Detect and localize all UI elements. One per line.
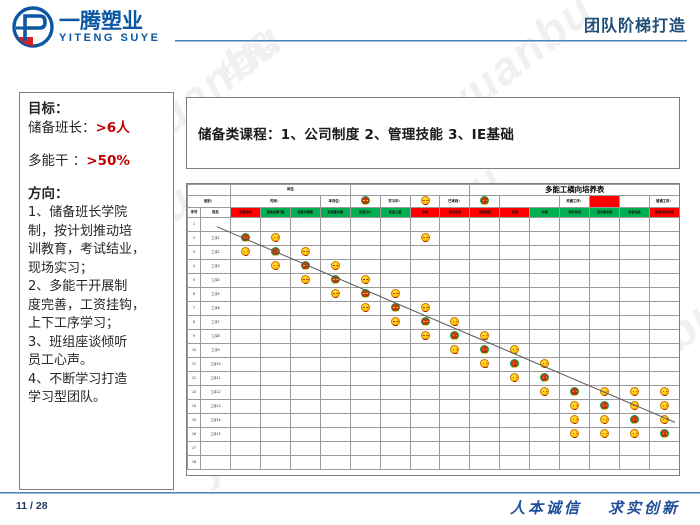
matrix-cell[interactable]: [410, 246, 440, 260]
matrix-cell[interactable]: [560, 246, 590, 260]
matrix-cell[interactable]: [620, 302, 650, 316]
matrix-cell[interactable]: [320, 330, 350, 344]
matrix-cell[interactable]: [620, 442, 650, 456]
matrix-cell[interactable]: [350, 386, 380, 400]
matrix-cell[interactable]: [410, 372, 440, 386]
matrix-cell[interactable]: [530, 386, 560, 400]
matrix-column-header: 安装按钮: [470, 208, 500, 218]
matrix-cell[interactable]: [350, 288, 380, 302]
matrix-cell[interactable]: [500, 274, 530, 288]
matrix-cell[interactable]: [620, 218, 650, 232]
matrix-column-header: 混合器安装: [590, 208, 620, 218]
matrix-cell[interactable]: [440, 316, 470, 330]
matrix-cell[interactable]: [260, 428, 290, 442]
matrix-cell[interactable]: [500, 316, 530, 330]
goal-row: 储备班长：>6人: [28, 119, 167, 138]
matrix-cell[interactable]: [290, 372, 320, 386]
matrix-cell[interactable]: [440, 386, 470, 400]
matrix-cell[interactable]: [350, 218, 380, 232]
matrix-cell[interactable]: [260, 302, 290, 316]
matrix-cell[interactable]: [260, 246, 290, 260]
matrix-cell[interactable]: [410, 344, 440, 358]
matrix-cell[interactable]: [260, 288, 290, 302]
matrix-cell[interactable]: [231, 274, 261, 288]
matrix-cell[interactable]: [231, 260, 261, 274]
matrix-cell[interactable]: [500, 260, 530, 274]
matrix-cell[interactable]: [560, 232, 590, 246]
matrix-cell[interactable]: [560, 428, 590, 442]
matrix-row: 9工序8: [188, 330, 680, 344]
matrix-cell[interactable]: [590, 456, 620, 470]
matrix-cell[interactable]: [410, 274, 440, 288]
footer-divider: [0, 492, 700, 495]
matrix-cell[interactable]: [380, 400, 410, 414]
matrix-cell[interactable]: [470, 330, 500, 344]
matrix-cell[interactable]: [320, 414, 350, 428]
matrix-cell[interactable]: [530, 316, 560, 330]
matrix-cell[interactable]: [470, 456, 500, 470]
matrix-cell[interactable]: [320, 316, 350, 330]
matrix-cell[interactable]: [649, 260, 679, 274]
matrix-cell[interactable]: [380, 330, 410, 344]
legend-tag-cell: 普通工序：: [649, 196, 679, 208]
matrix-cell[interactable]: [590, 344, 620, 358]
matrix-cell[interactable]: [649, 400, 679, 414]
matrix-cell[interactable]: [649, 428, 679, 442]
matrix-cell[interactable]: [560, 400, 590, 414]
matrix-cell[interactable]: [590, 288, 620, 302]
matrix-cell[interactable]: [260, 372, 290, 386]
row-name: 工序5: [201, 288, 231, 302]
matrix-cell[interactable]: [560, 344, 590, 358]
yellow-smiley-icon: [301, 247, 310, 256]
matrix-cell[interactable]: [231, 218, 261, 232]
matrix-cell[interactable]: [500, 232, 530, 246]
yellow-smiley-icon: [630, 387, 639, 396]
matrix-cell[interactable]: [620, 260, 650, 274]
matrix-cell[interactable]: [530, 442, 560, 456]
matrix-cell[interactable]: [530, 330, 560, 344]
matrix-cell[interactable]: [590, 386, 620, 400]
row-name: 工序14: [201, 414, 231, 428]
matrix-cell[interactable]: [350, 358, 380, 372]
matrix-cell[interactable]: [440, 288, 470, 302]
matrix-cell[interactable]: [440, 274, 470, 288]
matrix-cell[interactable]: [410, 218, 440, 232]
matrix-cell[interactable]: [590, 246, 620, 260]
matrix-cell[interactable]: [231, 232, 261, 246]
matrix-cell[interactable]: [440, 414, 470, 428]
matrix-cell[interactable]: [350, 456, 380, 470]
matrix-cell[interactable]: [470, 302, 500, 316]
matrix-cell[interactable]: [470, 428, 500, 442]
matrix-cell[interactable]: [440, 246, 470, 260]
matrix-cell[interactable]: [500, 372, 530, 386]
matrix-cell[interactable]: [500, 428, 530, 442]
matrix-cell[interactable]: [500, 288, 530, 302]
matrix-cell[interactable]: [320, 232, 350, 246]
matrix-cell[interactable]: [590, 316, 620, 330]
row-number: 13: [188, 386, 201, 400]
matrix-cell[interactable]: [290, 260, 320, 274]
matrix-cell[interactable]: [590, 372, 620, 386]
matrix-cell[interactable]: [470, 372, 500, 386]
matrix-cell[interactable]: [590, 302, 620, 316]
matrix-cell[interactable]: [649, 414, 679, 428]
matrix-cell[interactable]: [649, 316, 679, 330]
matrix-cell[interactable]: [260, 400, 290, 414]
matrix-cell[interactable]: [620, 428, 650, 442]
matrix-cell[interactable]: [530, 232, 560, 246]
matrix-cell[interactable]: [320, 288, 350, 302]
matrix-cell[interactable]: [231, 428, 261, 442]
matrix-cell[interactable]: [590, 274, 620, 288]
matrix-cell[interactable]: [260, 358, 290, 372]
matrix-cell[interactable]: [470, 358, 500, 372]
matrix-cell[interactable]: [380, 386, 410, 400]
matrix-cell[interactable]: [649, 442, 679, 456]
matrix-cell[interactable]: [649, 302, 679, 316]
matrix-cell[interactable]: [410, 414, 440, 428]
matrix-cell[interactable]: [649, 218, 679, 232]
matrix-cell[interactable]: [350, 330, 380, 344]
matrix-cell[interactable]: [560, 442, 590, 456]
matrix-cell[interactable]: [620, 274, 650, 288]
matrix-cell[interactable]: [380, 316, 410, 330]
matrix-cell[interactable]: [440, 218, 470, 232]
row-number: 8: [188, 316, 201, 330]
matrix-cell[interactable]: [260, 274, 290, 288]
matrix-cell[interactable]: [620, 456, 650, 470]
matrix-cell[interactable]: [260, 456, 290, 470]
matrix-cell[interactable]: [350, 372, 380, 386]
matrix-cell[interactable]: [470, 218, 500, 232]
matrix-cell[interactable]: [350, 274, 380, 288]
matrix-cell[interactable]: [530, 288, 560, 302]
yellow-smiley-icon: [600, 429, 609, 438]
matrix-cell[interactable]: [290, 274, 320, 288]
matrix-cell[interactable]: [560, 316, 590, 330]
yellow-smiley-icon: [421, 233, 430, 242]
matrix-cell[interactable]: [380, 302, 410, 316]
matrix-cell[interactable]: [320, 218, 350, 232]
matrix-cell[interactable]: [290, 330, 320, 344]
matrix-cell[interactable]: [380, 218, 410, 232]
matrix-cell[interactable]: [620, 372, 650, 386]
matrix-cell[interactable]: [380, 232, 410, 246]
matrix-cell[interactable]: [500, 302, 530, 316]
matrix-cell[interactable]: [530, 414, 560, 428]
matrix-cell[interactable]: [350, 344, 380, 358]
matrix-cell[interactable]: [290, 400, 320, 414]
matrix-cell[interactable]: [470, 274, 500, 288]
matrix-cell[interactable]: [560, 302, 590, 316]
matrix-cell[interactable]: [649, 232, 679, 246]
yellow-smiley-icon: [301, 275, 310, 284]
matrix-cell[interactable]: [410, 302, 440, 316]
matrix-cell[interactable]: [320, 358, 350, 372]
matrix-cell[interactable]: [560, 330, 590, 344]
matrix-cell[interactable]: [320, 456, 350, 470]
matrix-cell[interactable]: [500, 246, 530, 260]
matrix-cell[interactable]: [380, 288, 410, 302]
matrix-cell[interactable]: [620, 400, 650, 414]
matrix-cell[interactable]: [260, 316, 290, 330]
matrix-cell[interactable]: [440, 358, 470, 372]
yellow-smiley-icon: [540, 359, 549, 368]
matrix-cell[interactable]: [380, 442, 410, 456]
matrix-cell[interactable]: [231, 302, 261, 316]
matrix-cell[interactable]: [380, 428, 410, 442]
matrix-cell[interactable]: [231, 330, 261, 344]
matrix-cell[interactable]: [440, 330, 470, 344]
matrix-cell[interactable]: [380, 358, 410, 372]
matrix-cell[interactable]: [231, 400, 261, 414]
matrix-cell[interactable]: [649, 386, 679, 400]
yellow-smiley-icon: [421, 331, 430, 340]
matrix-cell[interactable]: [290, 232, 320, 246]
matrix-cell[interactable]: [530, 456, 560, 470]
matrix-cell[interactable]: [231, 246, 261, 260]
matrix-cell[interactable]: [320, 260, 350, 274]
matrix-cell[interactable]: [500, 414, 530, 428]
matrix-row: 6工序5: [188, 288, 680, 302]
matrix-cell[interactable]: [500, 456, 530, 470]
matrix-cell[interactable]: [320, 344, 350, 358]
matrix-cell[interactable]: [440, 428, 470, 442]
matrix-cell[interactable]: [290, 344, 320, 358]
matrix-cell[interactable]: [231, 288, 261, 302]
matrix-cell[interactable]: [290, 316, 320, 330]
green-smiley-icon: [391, 303, 400, 312]
matrix-cell[interactable]: [470, 414, 500, 428]
matrix-cell[interactable]: [560, 456, 590, 470]
matrix-cell[interactable]: [530, 302, 560, 316]
yellow-smiley-icon: [630, 401, 639, 410]
matrix-cell[interactable]: [649, 372, 679, 386]
matrix-cell[interactable]: [530, 358, 560, 372]
matrix-cell[interactable]: [470, 400, 500, 414]
matrix-cell[interactable]: [410, 400, 440, 414]
matrix-cell[interactable]: [231, 386, 261, 400]
matrix-cell[interactable]: [620, 358, 650, 372]
row-number: 3: [188, 246, 201, 260]
matrix-cell[interactable]: [440, 400, 470, 414]
matrix-cell[interactable]: [530, 218, 560, 232]
matrix-cell[interactable]: [470, 344, 500, 358]
yellow-smiley-icon: [660, 415, 669, 424]
matrix-cell[interactable]: [350, 302, 380, 316]
matrix-cell[interactable]: [410, 330, 440, 344]
matrix-cell[interactable]: [290, 456, 320, 470]
matrix-cell[interactable]: [410, 260, 440, 274]
matrix-cell[interactable]: [530, 344, 560, 358]
matrix-cell[interactable]: [649, 358, 679, 372]
matrix-cell[interactable]: [500, 330, 530, 344]
matrix-cell[interactable]: [440, 232, 470, 246]
matrix-cell[interactable]: [530, 372, 560, 386]
matrix-cell[interactable]: [500, 218, 530, 232]
matrix-cell[interactable]: [350, 316, 380, 330]
matrix-cell[interactable]: [649, 344, 679, 358]
matrix-cell[interactable]: [470, 232, 500, 246]
matrix-cell[interactable]: [470, 386, 500, 400]
matrix-cell[interactable]: [231, 316, 261, 330]
matrix-cell[interactable]: [440, 456, 470, 470]
matrix-cell[interactable]: [290, 302, 320, 316]
matrix-cell[interactable]: [560, 218, 590, 232]
matrix-cell[interactable]: [530, 400, 560, 414]
matrix-cell[interactable]: [231, 414, 261, 428]
matrix-cell[interactable]: [260, 260, 290, 274]
matrix-cell[interactable]: [320, 386, 350, 400]
matrix-cell[interactable]: [440, 344, 470, 358]
matrix-cell[interactable]: [500, 358, 530, 372]
matrix-cell[interactable]: [590, 260, 620, 274]
matrix-cell[interactable]: [380, 372, 410, 386]
matrix-cell[interactable]: [649, 246, 679, 260]
matrix-cell[interactable]: [260, 386, 290, 400]
matrix-cell[interactable]: [649, 274, 679, 288]
matrix-cell[interactable]: [260, 330, 290, 344]
matrix-column-header: 安装圆水器: [320, 208, 350, 218]
matrix-cell[interactable]: [260, 442, 290, 456]
matrix-cell[interactable]: [410, 288, 440, 302]
matrix-cell[interactable]: [380, 246, 410, 260]
matrix-cell[interactable]: [560, 274, 590, 288]
matrix-cell[interactable]: [440, 442, 470, 456]
matrix-cell[interactable]: [290, 358, 320, 372]
logo-chinese-name: 一腾塑业: [59, 11, 160, 32]
matrix-cell[interactable]: [350, 246, 380, 260]
matrix-cell[interactable]: [380, 456, 410, 470]
matrix-cell[interactable]: [320, 302, 350, 316]
matrix-column-header: 安装上盖: [380, 208, 410, 218]
matrix-cell[interactable]: [290, 246, 320, 260]
matrix-cell[interactable]: [649, 456, 679, 470]
matrix-cell[interactable]: [350, 400, 380, 414]
matrix-cell[interactable]: [290, 288, 320, 302]
matrix-row: 16工序15: [188, 428, 680, 442]
matrix-cell[interactable]: [620, 344, 650, 358]
matrix-cell[interactable]: [350, 428, 380, 442]
matrix-cell[interactable]: [560, 386, 590, 400]
matrix-cell[interactable]: [410, 456, 440, 470]
matrix-cell[interactable]: [260, 218, 290, 232]
matrix-cell[interactable]: [620, 386, 650, 400]
matrix-cell[interactable]: [290, 414, 320, 428]
matrix-cell[interactable]: [440, 372, 470, 386]
matrix-cell[interactable]: [590, 358, 620, 372]
matrix-cell[interactable]: [260, 232, 290, 246]
matrix-cell[interactable]: [590, 330, 620, 344]
yellow-smiley-icon: [570, 429, 579, 438]
matrix-cell[interactable]: [440, 260, 470, 274]
matrix-cell[interactable]: [410, 386, 440, 400]
matrix-cell[interactable]: [470, 316, 500, 330]
matrix-cell[interactable]: [620, 288, 650, 302]
matrix-cell[interactable]: [560, 414, 590, 428]
matrix-cell[interactable]: [530, 428, 560, 442]
matrix-cell[interactable]: [590, 232, 620, 246]
matrix-cell[interactable]: [620, 330, 650, 344]
slogan-right: 求实创新: [608, 499, 680, 517]
matrix-cell[interactable]: [260, 344, 290, 358]
matrix-cell[interactable]: [590, 442, 620, 456]
matrix-cell[interactable]: [231, 358, 261, 372]
matrix-cell[interactable]: [440, 302, 470, 316]
matrix-cell[interactable]: [500, 400, 530, 414]
matrix-cell[interactable]: [290, 428, 320, 442]
matrix-cell[interactable]: [320, 428, 350, 442]
matrix-cell[interactable]: [500, 344, 530, 358]
matrix-cell[interactable]: [500, 386, 530, 400]
matrix-cell[interactable]: [320, 274, 350, 288]
matrix-cell[interactable]: [410, 316, 440, 330]
matrix-cell[interactable]: [590, 400, 620, 414]
goal-value: >6人: [96, 120, 130, 136]
matrix-cell[interactable]: [530, 260, 560, 274]
matrix-cell[interactable]: [470, 246, 500, 260]
matrix-cell[interactable]: [231, 372, 261, 386]
matrix-cell[interactable]: [410, 442, 440, 456]
matrix-cell[interactable]: [560, 358, 590, 372]
matrix-cell[interactable]: [530, 274, 560, 288]
matrix-cell[interactable]: [260, 414, 290, 428]
matrix-cell[interactable]: [350, 260, 380, 274]
matrix-cell[interactable]: [410, 232, 440, 246]
matrix-cell[interactable]: [560, 260, 590, 274]
matrix-cell[interactable]: [231, 442, 261, 456]
row-name: 工序8: [201, 330, 231, 344]
matrix-cell[interactable]: [290, 442, 320, 456]
matrix-cell[interactable]: [470, 260, 500, 274]
matrix-cell[interactable]: [530, 246, 560, 260]
matrix-cell[interactable]: [620, 232, 650, 246]
matrix-cell[interactable]: [380, 260, 410, 274]
matrix-cell[interactable]: [620, 414, 650, 428]
matrix-cell[interactable]: [290, 386, 320, 400]
matrix-cell[interactable]: [470, 442, 500, 456]
matrix-cell[interactable]: [410, 358, 440, 372]
matrix-cell[interactable]: [649, 288, 679, 302]
matrix-cell[interactable]: [320, 246, 350, 260]
matrix-cell[interactable]: [290, 218, 320, 232]
matrix-cell[interactable]: [231, 344, 261, 358]
matrix-cell[interactable]: [620, 316, 650, 330]
matrix-cell[interactable]: [320, 372, 350, 386]
matrix-cell[interactable]: [410, 428, 440, 442]
matrix-cell[interactable]: [649, 330, 679, 344]
matrix-cell[interactable]: [380, 274, 410, 288]
matrix-cell[interactable]: [380, 414, 410, 428]
matrix-cell[interactable]: [350, 232, 380, 246]
matrix-cell[interactable]: [590, 414, 620, 428]
matrix-cell[interactable]: [590, 218, 620, 232]
matrix-cell[interactable]: [470, 288, 500, 302]
matrix-cell[interactable]: [620, 246, 650, 260]
matrix-cell[interactable]: [231, 456, 261, 470]
matrix-cell[interactable]: [350, 414, 380, 428]
matrix-cell[interactable]: [560, 372, 590, 386]
matrix-cell[interactable]: [590, 428, 620, 442]
matrix-cell[interactable]: [500, 442, 530, 456]
matrix-cell[interactable]: [350, 442, 380, 456]
matrix-cell[interactable]: [560, 288, 590, 302]
matrix-cell[interactable]: [320, 400, 350, 414]
matrix-cell[interactable]: [320, 442, 350, 456]
matrix-cell[interactable]: [380, 344, 410, 358]
